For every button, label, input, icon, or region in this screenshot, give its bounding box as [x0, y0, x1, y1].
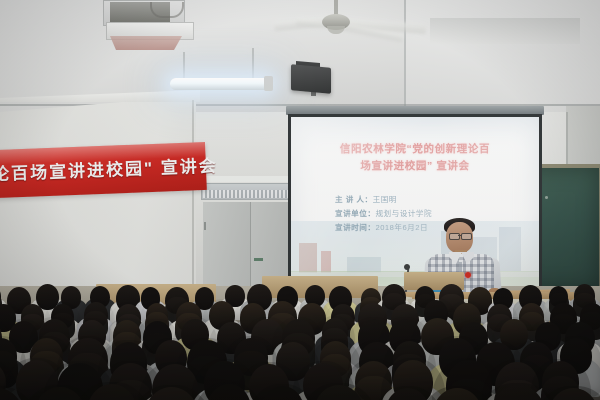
- ceiling-seam: [404, 0, 406, 112]
- fluorescent-light-icon: [170, 78, 270, 90]
- slide-title: 信阳农林学院“党的创新理论百 场宣讲进校园” 宣讲会: [305, 141, 525, 175]
- door-hinge: [204, 222, 206, 230]
- light-suspension-rod: [252, 48, 254, 78]
- wall-speaker-icon: [291, 64, 331, 93]
- ceiling-recess: [430, 18, 580, 44]
- slide-line-unit-label: 宣讲单位：: [335, 209, 375, 218]
- slide-detail-lines: 主 讲 人：王国明 宣讲单位：规划与设计学院 宣讲时间：2018年6月2日: [335, 193, 535, 235]
- projector-cable: [150, 2, 184, 18]
- slide-line-time-label: 宣讲时间：: [335, 223, 375, 232]
- projection-screen: 信阳农林学院“党的创新理论百 场宣讲进校园” 宣讲会 主 讲 人：王国明 宣讲单…: [291, 117, 539, 287]
- ceiling-panel: [404, 0, 600, 112]
- slide-line-presenter-label: 主 讲 人：: [335, 195, 373, 204]
- chalk-mark: [545, 196, 548, 199]
- light-end-cap: [264, 76, 273, 91]
- slide-line-presenter-value: 王国明: [373, 195, 397, 204]
- projector-lens-plate: [110, 36, 182, 50]
- transom-grille: [203, 190, 299, 198]
- lecture-hall-photo: 信阳农林学院“党的创新理论百 场宣讲进校园” 宣讲会 主 讲 人：王国明 宣讲单…: [0, 0, 600, 400]
- slide-line-unit: 宣讲单位：规划与设计学院: [335, 207, 535, 221]
- glasses-bridge: [458, 235, 461, 236]
- slide-line-time: 宣讲时间：2018年6月2日: [335, 221, 535, 235]
- audience: [0, 270, 600, 400]
- glasses-icon: [461, 233, 472, 240]
- slide-title-line-1: 信阳农林学院“党的创新理论百: [305, 141, 525, 158]
- campus-building: [299, 243, 317, 273]
- slide-title-line-2: 场宣讲进校园” 宣讲会: [305, 158, 525, 175]
- door-handle-icon[interactable]: [254, 258, 263, 261]
- slide-line-unit-value: 规划与设计学院: [375, 209, 432, 218]
- slide-line-time-value: 2018年6月2日: [375, 223, 428, 232]
- slide-line-presenter: 主 讲 人：王国明: [335, 193, 535, 207]
